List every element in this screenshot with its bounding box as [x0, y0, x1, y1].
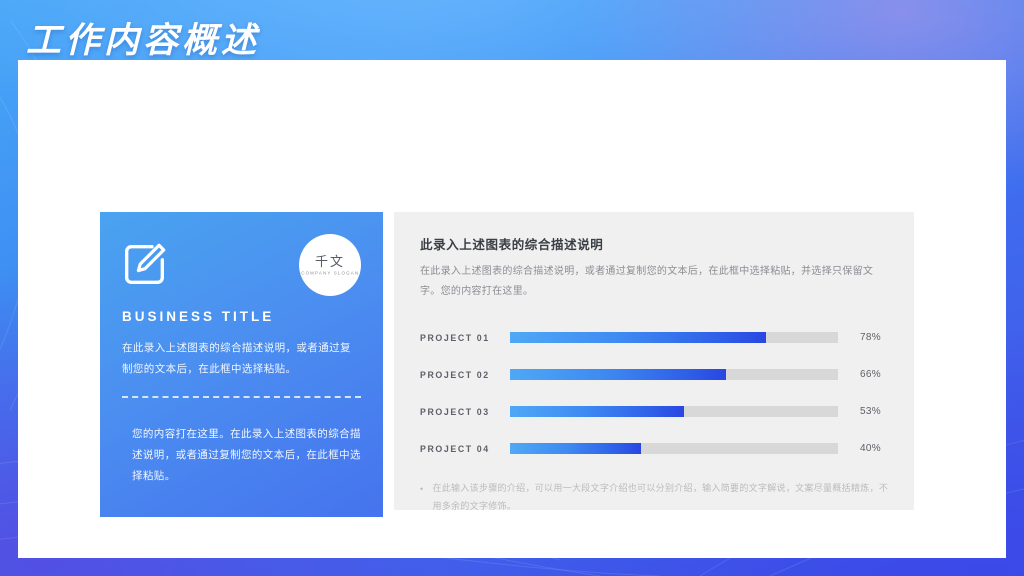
bar-value-label: 53%	[838, 406, 890, 417]
panel-subtext: 在此录入上述图表的综合描述说明，或者通过复制您的文本后，在此框中选择粘贴，并选择…	[420, 262, 890, 301]
bar-label: PROJECT 01	[420, 333, 510, 343]
panel-heading: 此录入上述图表的综合描述说明	[420, 234, 890, 253]
company-logo-badge: 千文 COMPANY SLOGAN	[299, 234, 361, 296]
right-description-panel: 此录入上述图表的综合描述说明 在此录入上述图表的综合描述说明，或者通过复制您的文…	[394, 212, 914, 510]
table-row: PROJECT 01 78%	[420, 319, 890, 356]
slide-title: 工作内容概述	[26, 12, 260, 63]
bar-value-label: 78%	[838, 332, 890, 343]
bar-fill	[510, 406, 684, 417]
table-row: PROJECT 04 40%	[420, 430, 890, 467]
bullet-icon: •	[420, 479, 423, 515]
content-page: 千文 COMPANY SLOGAN BUSINESS TITLE 在此录入上述图…	[18, 60, 1006, 558]
logo-slogan: COMPANY SLOGAN	[301, 271, 359, 276]
card-paragraph-one: 在此录入上述图表的综合描述说明，或者通过复制您的文本后，在此框中选择粘贴。	[122, 338, 361, 380]
bar-fill	[510, 332, 766, 343]
bar-value-label: 66%	[838, 369, 890, 380]
bar-label: PROJECT 04	[420, 444, 510, 454]
bar-track	[510, 406, 838, 417]
business-title: BUSINESS TITLE	[122, 309, 361, 324]
bar-fill	[510, 443, 641, 454]
card-paragraph-two: 您的内容打在这里。在此录入上述图表的综合描述说明，或者通过复制您的文本后，在此框…	[122, 424, 361, 487]
bar-label: PROJECT 03	[420, 407, 510, 417]
bar-value-label: 40%	[838, 443, 890, 454]
bar-track	[510, 332, 838, 343]
dashed-divider	[122, 396, 361, 398]
table-row: PROJECT 03 53%	[420, 393, 890, 430]
left-info-card: 千文 COMPANY SLOGAN BUSINESS TITLE 在此录入上述图…	[100, 212, 383, 517]
bar-label: PROJECT 02	[420, 370, 510, 380]
progress-bar-chart: PROJECT 01 78% PROJECT 02 66% PROJECT 03…	[420, 319, 890, 467]
panel-footnote: • 在此输入该步骤的介绍，可以用一大段文字介绍也可以分别介绍，输入简要的文字解说…	[420, 479, 890, 515]
bar-fill	[510, 369, 726, 380]
footnote-text: 在此输入该步骤的介绍，可以用一大段文字介绍也可以分别介绍，输入简要的文字解说，文…	[432, 479, 890, 515]
bar-track	[510, 443, 838, 454]
logo-name: 千文	[315, 255, 345, 269]
bar-track	[510, 369, 838, 380]
table-row: PROJECT 02 66%	[420, 356, 890, 393]
